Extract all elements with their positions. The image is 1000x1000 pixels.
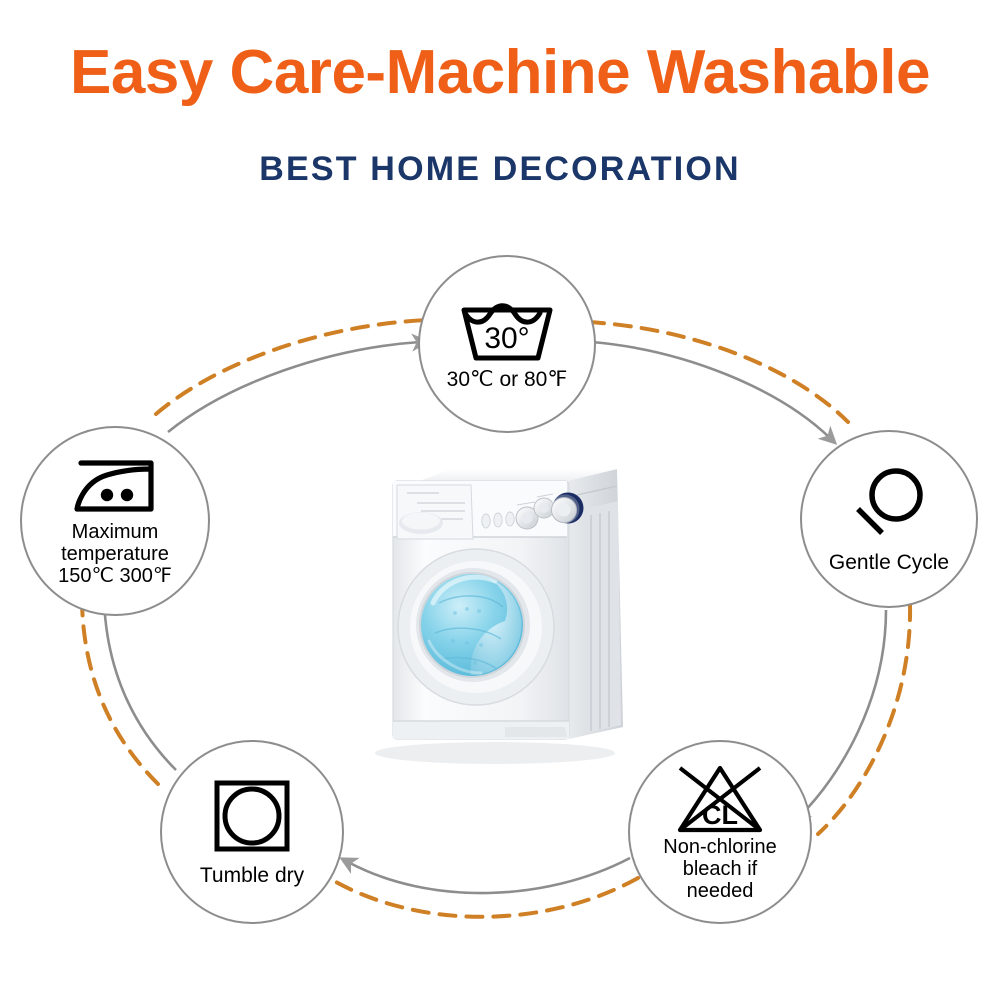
node-tumble-dry[interactable]: Tumble dry xyxy=(160,740,344,924)
node-bleach-caption: Non-chlorine bleach if needed xyxy=(663,836,776,902)
washing-machine-illustration xyxy=(355,435,645,765)
node-iron-caption: Maximum temperature 150℃ 300℉ xyxy=(58,521,172,587)
page-title: Easy Care-Machine Washable xyxy=(0,38,1000,108)
node-wash-caption: 30℃ or 80℉ xyxy=(447,368,568,391)
care-cycle-diagram: 30° 30℃ or 80℉ Gentle Cycle CL xyxy=(0,230,1000,1000)
wash-temp-value: 30° xyxy=(484,322,529,355)
node-non-chlorine-bleach[interactable]: CL Non-chlorine bleach if needed xyxy=(628,740,812,924)
node-wash-temperature[interactable]: 30° 30℃ or 80℉ xyxy=(418,255,596,433)
node-gentle-caption: Gentle Cycle xyxy=(829,551,949,574)
gentle-cycle-icon xyxy=(848,465,930,539)
node-iron-max-temperature[interactable]: Maximum temperature 150℃ 300℉ xyxy=(20,426,210,616)
node-tumble-caption: Tumble dry xyxy=(200,864,304,887)
non-chlorine-bleach-icon: CL xyxy=(672,762,768,836)
bleach-cl-label: CL xyxy=(702,800,738,830)
arc-gentle-to-bleach xyxy=(800,604,910,834)
iron-two-dots-icon xyxy=(67,455,163,517)
arc-bleach-to-tumble xyxy=(336,858,638,917)
infographic-page: Easy Care-Machine Washable BEST HOME DEC… xyxy=(0,0,1000,1000)
page-subtitle: BEST HOME DECORATION xyxy=(0,148,1000,190)
arc-tumble-to-iron xyxy=(82,586,176,784)
arc-wash-to-gentle xyxy=(588,322,848,438)
arc-iron-to-wash xyxy=(156,320,428,432)
washing-machine-image xyxy=(355,435,645,765)
node-gentle-cycle[interactable]: Gentle Cycle xyxy=(800,430,978,608)
tumble-dry-icon xyxy=(212,778,292,854)
wash-tub-icon: 30° xyxy=(456,298,558,364)
